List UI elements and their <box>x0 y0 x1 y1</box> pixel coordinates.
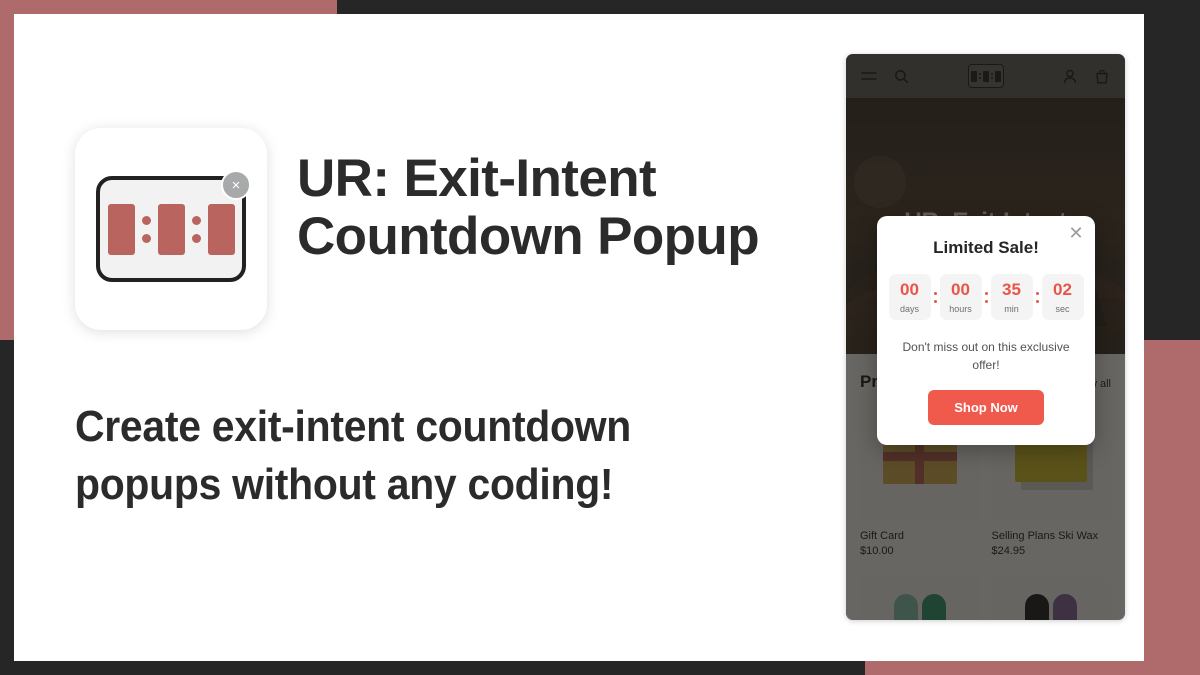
countdown-value: 00 <box>894 281 926 298</box>
page-title: UR: Exit-Intent Countdown Popup <box>297 150 815 266</box>
app-title-row: × UR: Exit-Intent Countdown Popup <box>75 128 815 330</box>
popup-message: Don't miss out on this exclusive offer! <box>893 338 1079 374</box>
icon-digit-block <box>108 204 135 255</box>
countdown-label: hours <box>945 304 977 314</box>
countdown-popup-icon: × <box>96 176 246 282</box>
countdown-label: sec <box>1047 304 1079 314</box>
icon-digit-block <box>158 204 185 255</box>
exit-intent-popup: ✕ Limited Sale! 00 days 00 hours 35 min … <box>877 216 1095 445</box>
icon-digit-block <box>208 204 235 255</box>
countdown-label: days <box>894 304 926 314</box>
countdown-separator <box>1035 292 1040 303</box>
icon-colon-dots <box>142 216 151 243</box>
left-content-column: × UR: Exit-Intent Countdown Popup Create… <box>75 128 815 514</box>
icon-colon-dots <box>192 216 201 243</box>
countdown-timer: 00 days 00 hours 35 min 02 sec <box>893 274 1079 320</box>
app-tagline: Create exit-intent countdown popups with… <box>75 398 670 514</box>
countdown-value: 00 <box>945 281 977 298</box>
shop-now-button[interactable]: Shop Now <box>928 390 1044 425</box>
countdown-unit-min: 35 min <box>991 274 1033 320</box>
countdown-label: min <box>996 304 1028 314</box>
popup-title: Limited Sale! <box>893 238 1079 258</box>
countdown-value: 02 <box>1047 281 1079 298</box>
countdown-separator <box>984 292 989 303</box>
screenshot-stage: × UR: Exit-Intent Countdown Popup Create… <box>0 0 1200 675</box>
countdown-unit-hours: 00 hours <box>940 274 982 320</box>
countdown-value: 35 <box>996 281 1028 298</box>
countdown-separator <box>933 292 938 303</box>
popup-close-icon[interactable]: ✕ <box>1067 224 1085 242</box>
countdown-unit-days: 00 days <box>889 274 931 320</box>
icon-close-badge: × <box>221 170 251 200</box>
countdown-unit-sec: 02 sec <box>1042 274 1084 320</box>
app-icon-card: × <box>75 128 267 330</box>
